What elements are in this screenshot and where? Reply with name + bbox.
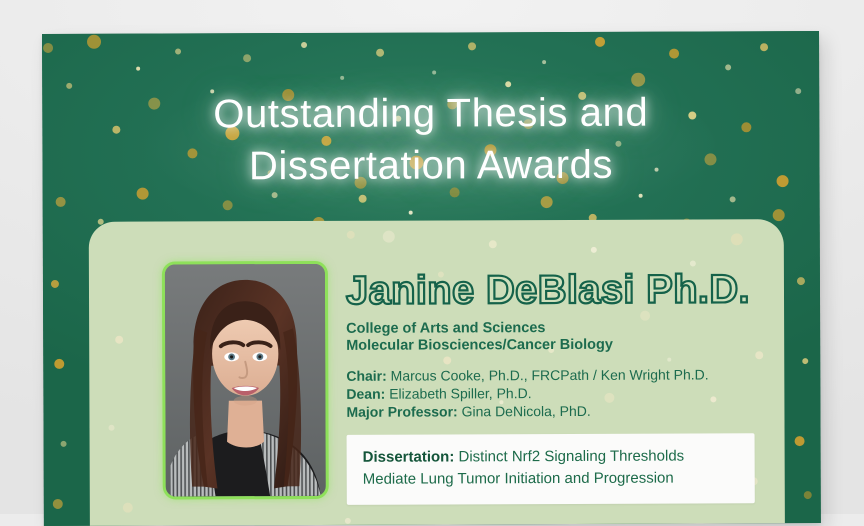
role-label-dean: Dean: <box>346 386 385 402</box>
role-row-chair: Chair: Marcus Cooke, Ph.D., FRCPath / Ke… <box>346 365 768 385</box>
confetti-dot <box>669 49 679 59</box>
confetti-dot <box>223 200 233 210</box>
confetti-dot <box>542 60 546 64</box>
confetti-dot <box>243 54 251 62</box>
confetti-dot <box>115 336 123 344</box>
poster-title-line1: Outstanding Thesis and <box>42 86 819 141</box>
confetti-dot <box>468 42 476 50</box>
awardee-photo-frame <box>162 261 329 500</box>
confetti-dot <box>345 518 351 524</box>
confetti-dot <box>359 195 367 203</box>
confetti-dot <box>340 76 344 80</box>
confetti-dot <box>730 196 736 202</box>
portrait-illustration <box>165 264 326 497</box>
confetti-dot <box>123 503 133 513</box>
confetti-dot <box>725 64 731 70</box>
dissertation-line1: Dissertation: Distinct Nrf2 Signaling Th… <box>363 445 739 468</box>
confetti-dot <box>690 260 696 266</box>
dissertation-line2: Mediate Lung Tumor Initiation and Progre… <box>363 467 739 490</box>
dissertation-title-part1: Distinct Nrf2 Signaling Thresholds <box>454 448 684 466</box>
confetti-dot <box>773 209 785 221</box>
awardee-college: College of Arts and Sciences <box>346 319 768 338</box>
confetti-dot <box>56 197 66 207</box>
confetti-dot <box>409 211 413 215</box>
confetti-dot <box>489 240 497 248</box>
role-value-chair: Marcus Cooke, Ph.D., FRCPath / Ken Wrigh… <box>387 366 709 383</box>
confetti-dot <box>301 42 307 48</box>
confetti-dot <box>43 43 53 53</box>
confetti-dot <box>175 48 181 54</box>
confetti-dot <box>802 358 808 364</box>
role-label-major-professor: Major Professor: <box>346 403 457 419</box>
confetti-dot <box>639 194 643 198</box>
confetti-dot <box>272 192 278 198</box>
confetti-dot <box>804 491 812 499</box>
confetti-dot <box>87 35 101 49</box>
role-row-dean: Dean: Elizabeth Spiller, Ph.D. <box>346 383 768 403</box>
confetti-dot <box>797 277 805 285</box>
confetti-dot <box>591 247 597 253</box>
confetti-dot <box>53 499 63 509</box>
awardee-program: Molecular Biosciences/Cancer Biology <box>346 336 768 355</box>
awardee-department: College of Arts and Sciences Molecular B… <box>346 319 768 355</box>
confetti-dot <box>731 233 743 245</box>
confetti-dot <box>54 359 64 369</box>
confetti-dot <box>136 67 140 71</box>
poster-title: Outstanding Thesis and Dissertation Awar… <box>42 86 819 193</box>
confetti-dot <box>109 425 115 431</box>
confetti-dot <box>595 37 605 47</box>
confetti-dot <box>383 231 395 243</box>
confetti-dot <box>795 436 805 446</box>
confetti-dot <box>51 280 59 288</box>
awardee-name: Janine DeBlasi Ph.D. <box>346 267 768 313</box>
role-value-dean: Elizabeth Spiller, Ph.D. <box>385 385 531 402</box>
awardee-panel: Janine DeBlasi Ph.D. College of Arts and… <box>89 219 785 526</box>
awardee-details-column: Janine DeBlasi Ph.D. College of Arts and… <box>346 267 769 505</box>
awardee-photo <box>165 264 326 497</box>
poster-title-line2: Dissertation Awards <box>42 138 819 193</box>
awardee-roles: Chair: Marcus Cooke, Ph.D., FRCPath / Ke… <box>346 365 768 421</box>
confetti-dot <box>631 73 645 87</box>
dissertation-box: Dissertation: Distinct Nrf2 Signaling Th… <box>347 433 755 505</box>
confetti-dot <box>432 70 436 74</box>
confetti-dot <box>760 43 768 51</box>
confetti-dot <box>347 231 355 239</box>
dissertation-label: Dissertation: <box>363 448 455 465</box>
award-poster-card: Outstanding Thesis and Dissertation Awar… <box>42 31 821 526</box>
confetti-dot <box>541 196 553 208</box>
confetti-dot <box>61 441 67 447</box>
role-value-major-professor: Gina DeNicola, PhD. <box>458 403 591 420</box>
confetti-dot <box>376 49 384 57</box>
role-label-chair: Chair: <box>346 368 387 384</box>
role-row-major-professor: Major Professor: Gina DeNicola, PhD. <box>346 401 768 421</box>
